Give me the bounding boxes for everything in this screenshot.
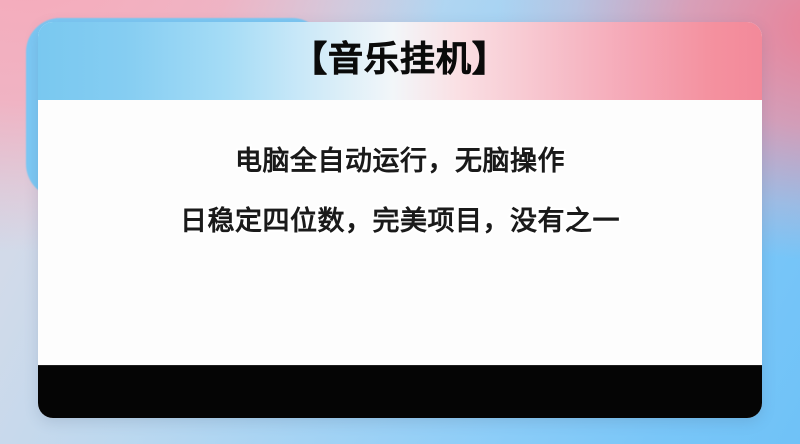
card-header-band: 【音乐挂机】 (38, 22, 762, 100)
page-title: 【音乐挂机】 (292, 43, 508, 78)
card-body: 电脑全自动运行，无脑操作 日稳定四位数，完美项目，没有之一 (38, 100, 762, 365)
body-line-2: 日稳定四位数，完美项目，没有之一 (38, 208, 762, 236)
promo-poster: 【音乐挂机】 电脑全自动运行，无脑操作 日稳定四位数，完美项目，没有之一 (0, 0, 800, 444)
poster-card: 【音乐挂机】 电脑全自动运行，无脑操作 日稳定四位数，完美项目，没有之一 (38, 22, 762, 418)
body-line-1: 电脑全自动运行，无脑操作 (38, 148, 762, 176)
card-footer-bar (38, 365, 762, 418)
